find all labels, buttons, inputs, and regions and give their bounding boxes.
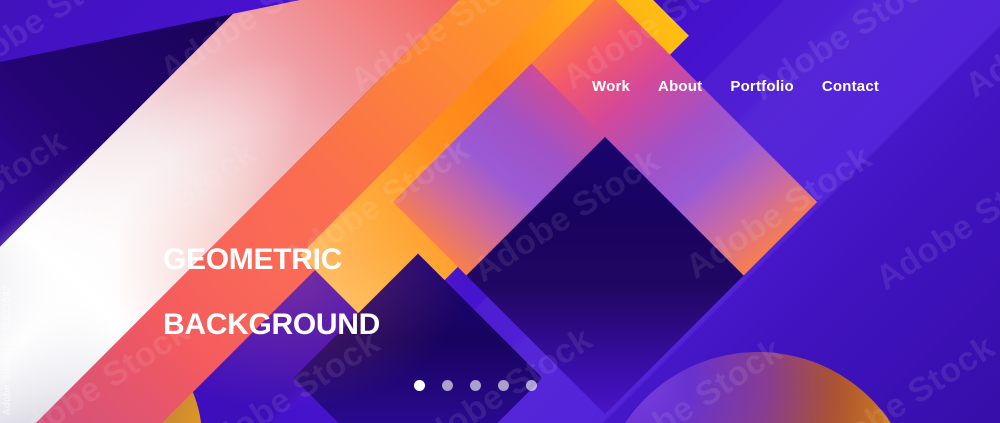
- nav-item-portfolio[interactable]: Portfolio: [730, 78, 793, 95]
- hero-headline: GEOMETRIC BACKGROUND: [163, 212, 380, 374]
- nav-item-work[interactable]: Work: [592, 78, 630, 95]
- headline-line-2: BACKGROUND: [163, 309, 380, 341]
- carousel-dot-4[interactable]: [498, 380, 509, 391]
- hero-banner: Adobe StockAdobe StockAdobe StockAdobe S…: [0, 0, 1000, 423]
- carousel-dot-5[interactable]: [526, 380, 537, 391]
- nav-item-about[interactable]: About: [658, 78, 702, 95]
- headline-line-1: GEOMETRIC: [163, 244, 380, 276]
- main-navigation: Work About Portfolio Contact: [592, 78, 879, 95]
- carousel-dot-2[interactable]: [442, 380, 453, 391]
- carousel-dots: [414, 380, 537, 391]
- stock-credit-label: Adobe Stock | #776822092: [2, 285, 13, 415]
- carousel-dot-1[interactable]: [414, 380, 425, 391]
- nav-item-contact[interactable]: Contact: [822, 78, 879, 95]
- carousel-dot-3[interactable]: [470, 380, 481, 391]
